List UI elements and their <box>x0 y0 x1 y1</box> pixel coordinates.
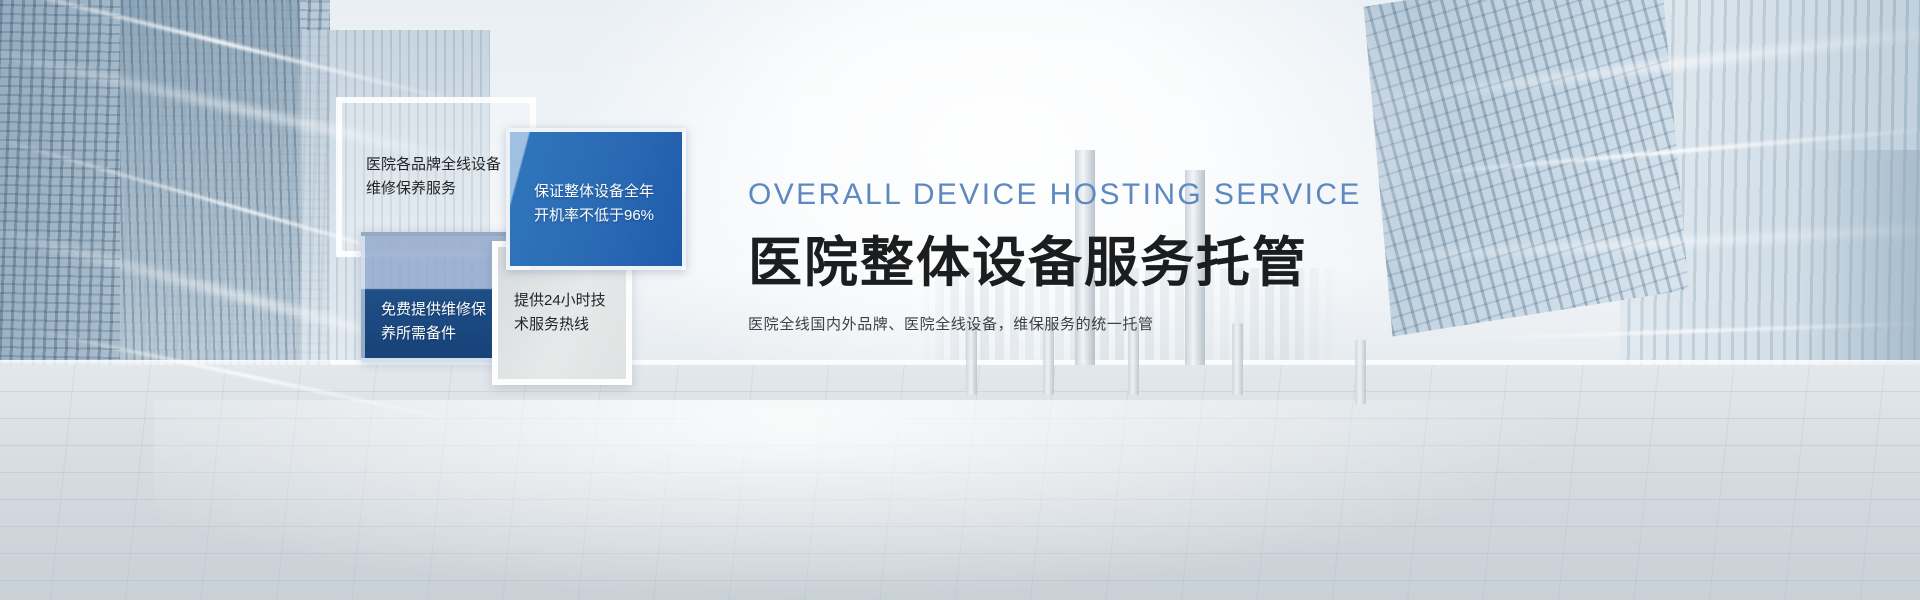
card-hotline-text: 提供24小时技 术服务热线 <box>514 289 606 338</box>
headline-block: OVERALL DEVICE HOSTING SERVICE 医院整体设备服务托… <box>748 178 1448 334</box>
headline-subtitle: 医院全线国内外品牌、医院全线设备，维保服务的统一托管 <box>748 313 1448 334</box>
hero-banner: 医院各品牌全线设备 维修保养服务 免费提供维修保 养所需备件 提供24小时技 术… <box>0 0 1920 600</box>
card-free-parts-text: 免费提供维修保 养所需备件 <box>381 298 486 347</box>
card-uptime-guarantee[interactable]: 保证整体设备全年 开机率不低于96% <box>506 128 686 270</box>
plaza-bollard-5 <box>1355 340 1366 404</box>
plaza-floor-shine <box>154 400 1575 600</box>
card-service-scope-text: 医院各品牌全线设备 维修保养服务 <box>366 153 501 202</box>
card-uptime-guarantee-text: 保证整体设备全年 开机率不低于96% <box>534 180 654 229</box>
headline-eyebrow: OVERALL DEVICE HOSTING SERVICE <box>748 178 1448 212</box>
page-title: 医院整体设备服务托管 <box>748 218 1448 297</box>
